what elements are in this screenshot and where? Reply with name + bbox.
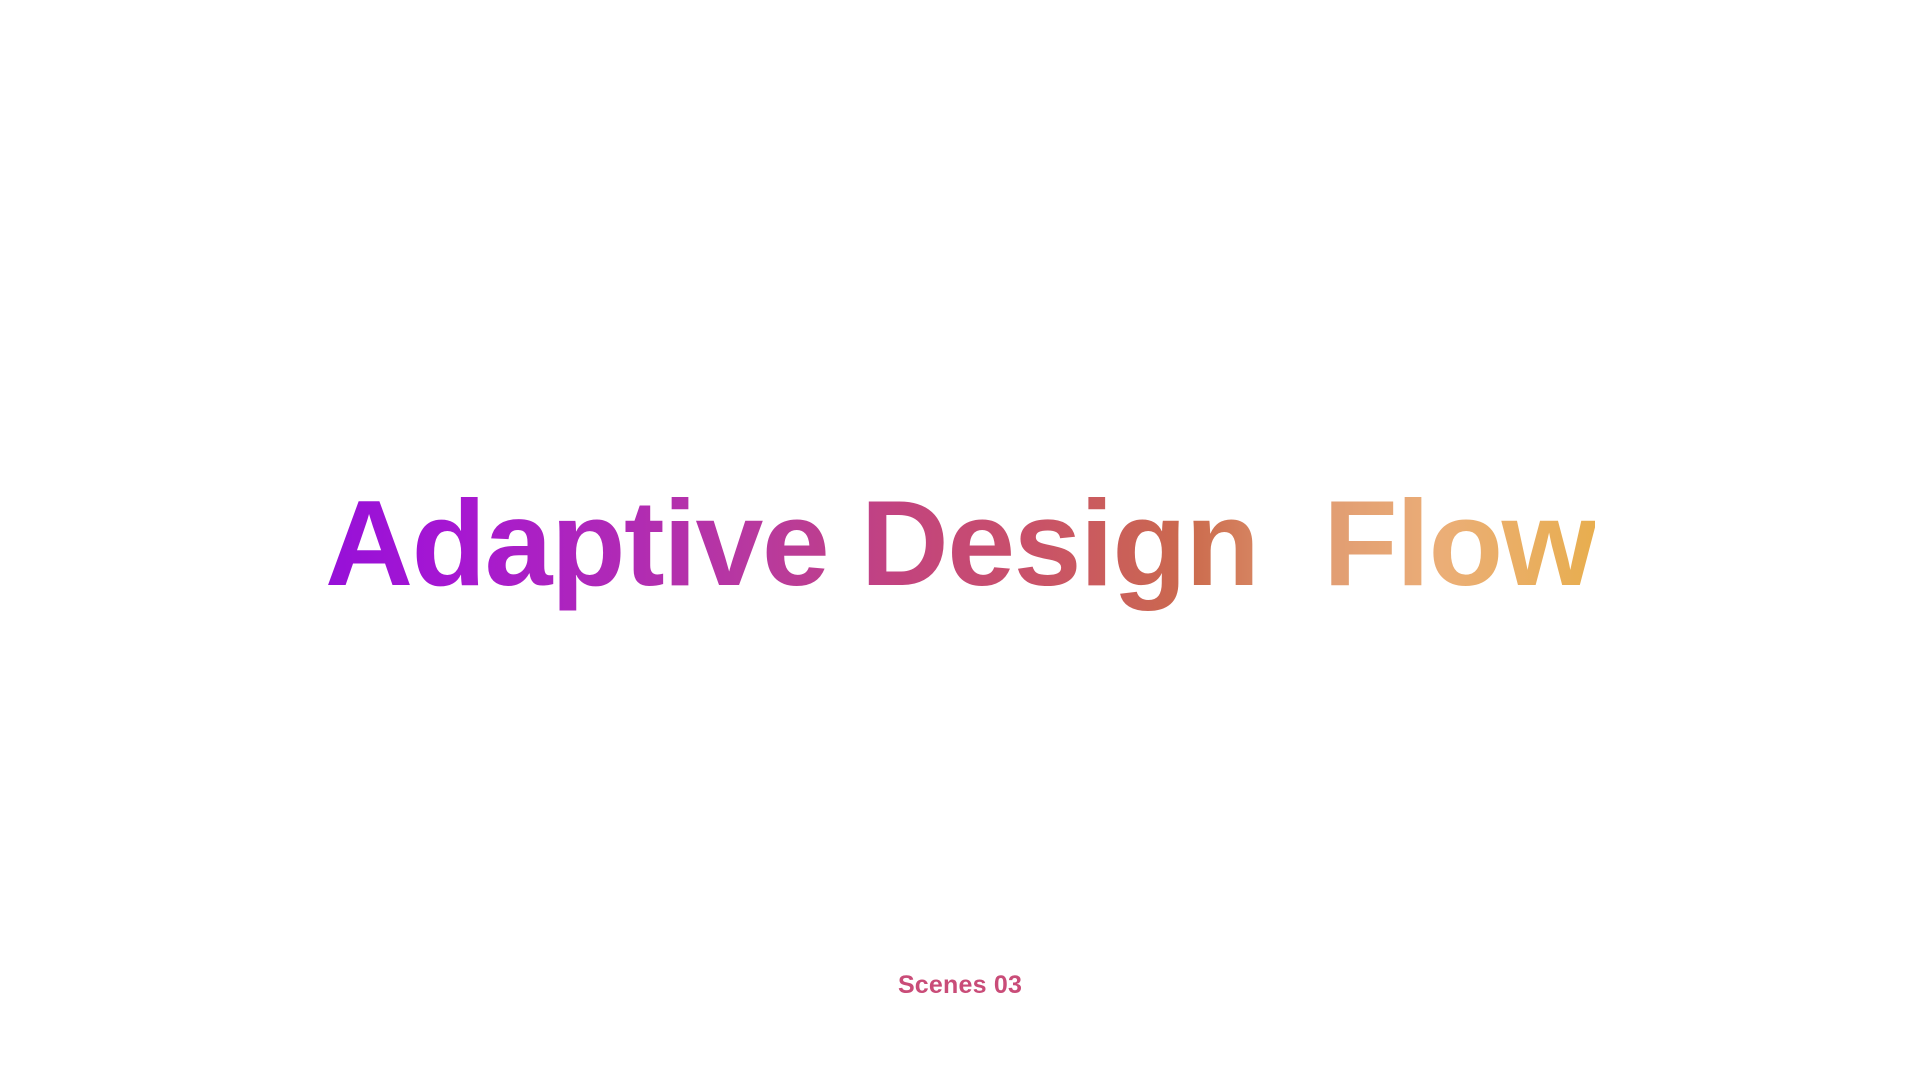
page-title: Adaptive Design Flow [325, 482, 1595, 620]
scene-label: Scenes 03 [898, 972, 1022, 1000]
slide-canvas: Adaptive Design Flow Scenes 03 [0, 0, 1920, 1080]
headline-container: Adaptive Design Flow [0, 0, 1920, 620]
subtitle-container: Scenes 03 [0, 972, 1920, 1000]
